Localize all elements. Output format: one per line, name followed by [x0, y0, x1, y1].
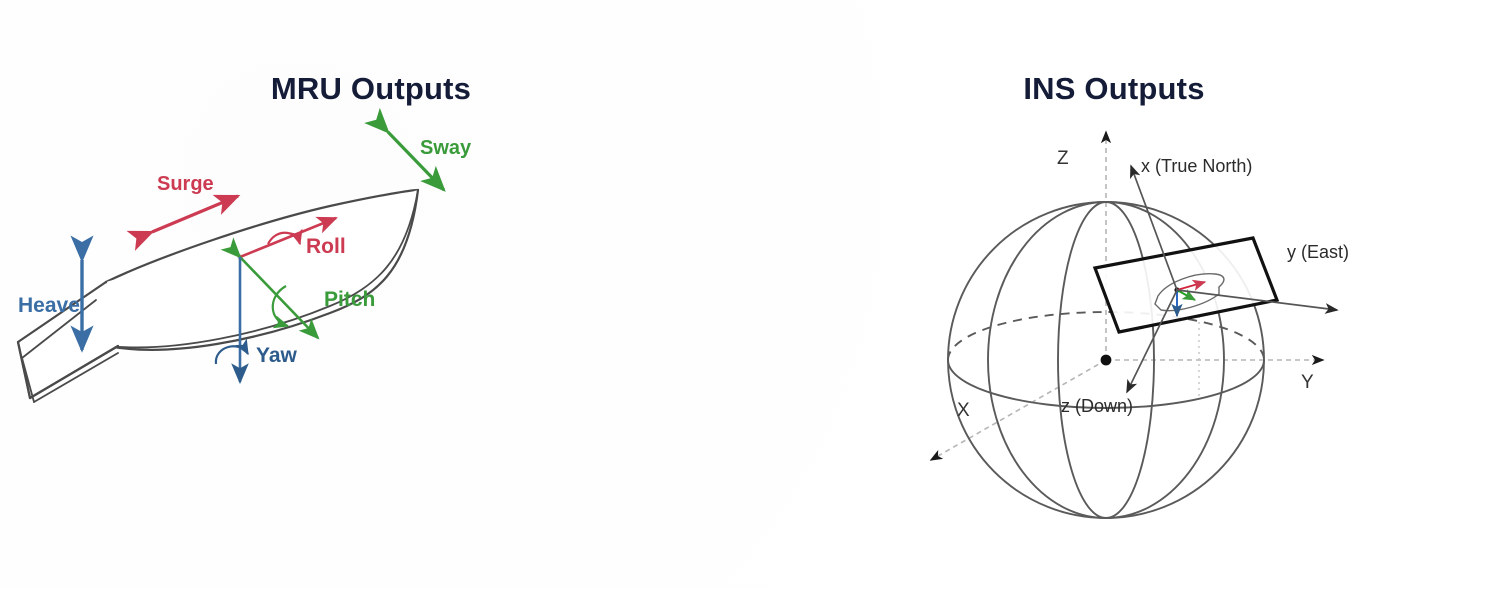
- page-title-mru: MRU Outputs: [0, 71, 742, 107]
- sphere-center-dot: [1101, 355, 1112, 366]
- body-z-label: z (Down): [1061, 396, 1133, 416]
- surge-arrow: [152, 196, 238, 232]
- sway-label: Sway: [420, 137, 472, 159]
- roll-label: Roll: [306, 235, 346, 258]
- heave-label: Heave: [18, 294, 80, 317]
- yaw-label: Yaw: [256, 344, 298, 367]
- page-title-ins: INS Outputs: [743, 71, 1485, 107]
- axis-x-label: X: [957, 400, 970, 421]
- panel-ins: INS Outputs: [743, 0, 1485, 589]
- earth-sphere-frames-diagram: Z Y X x (True North) y (East) z (Down): [743, 110, 1485, 570]
- axis-z-label: Z: [1057, 148, 1069, 169]
- panel-mru: MRU Outputs: [0, 0, 742, 589]
- surge-label: Surge: [157, 173, 214, 195]
- pitch-label: Pitch: [324, 288, 375, 311]
- vessel-6dof-diagram: Heave Surge Sway Roll: [0, 110, 742, 570]
- body-y-label: y (East): [1287, 242, 1349, 262]
- axis-y-label: Y: [1301, 372, 1314, 393]
- body-x-label: x (True North): [1141, 156, 1252, 176]
